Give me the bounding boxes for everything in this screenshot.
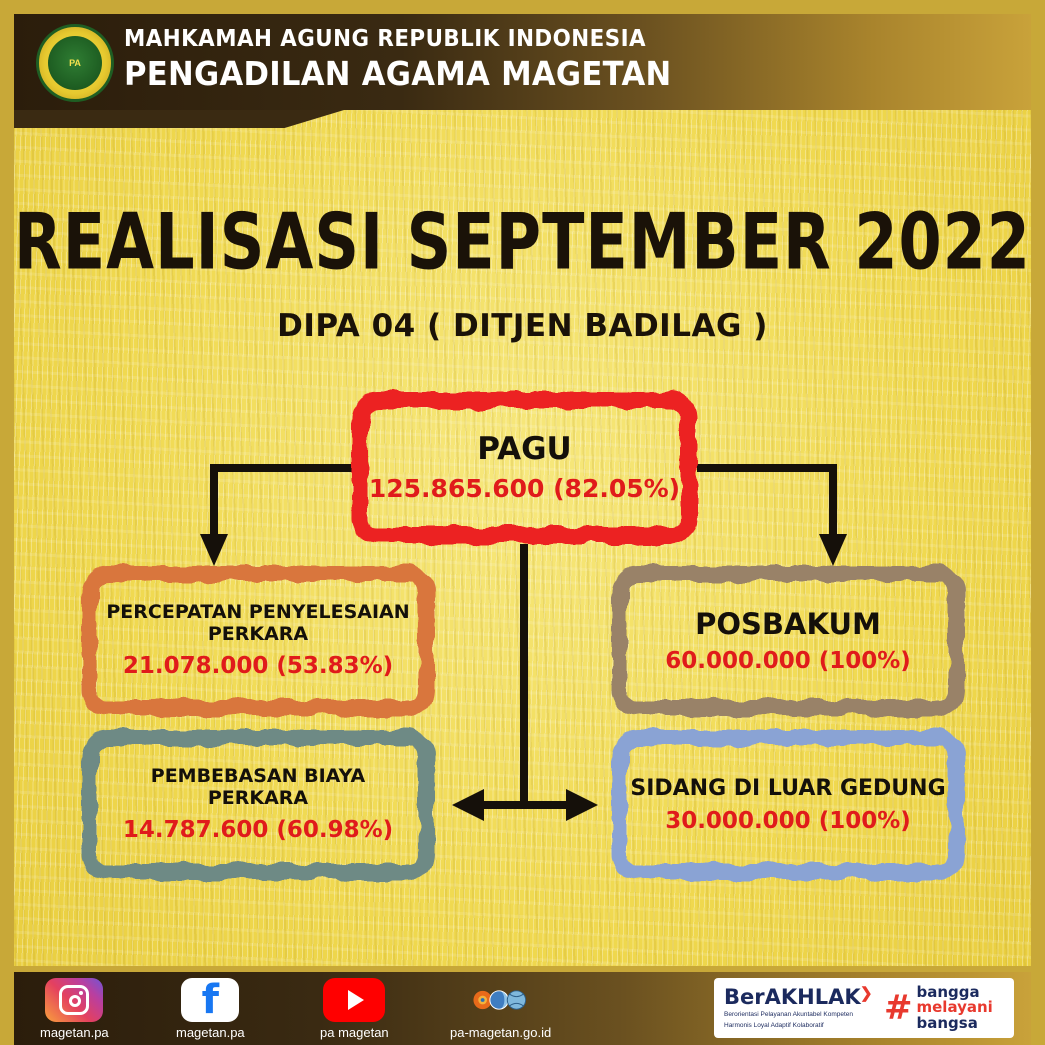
berakhlak-badge: BerAKHLAK Berorientasi Pelayanan Akuntab…: [714, 978, 1014, 1038]
website-icon[interactable]: [472, 978, 530, 1022]
node-percepatan-value: 21.078.000 (53.83%): [98, 653, 418, 679]
node-pembebasan-label: PEMBEBASAN BIAYA PERKARA: [98, 766, 418, 810]
social-facebook[interactable]: f magetan.pa: [176, 978, 245, 1040]
social-facebook-caption: magetan.pa: [176, 1025, 245, 1040]
node-sidang-label: SIDANG DI LUAR GEDUNG: [630, 776, 945, 801]
berakhlak-check-icon: ❯: [860, 984, 873, 1002]
node-posbakum-content: POSBAKUM 60.000.000 (100%): [649, 608, 927, 675]
facebook-icon[interactable]: f: [181, 978, 239, 1022]
social-website[interactable]: pa-magetan.go.id: [450, 978, 551, 1040]
node-pembebasan-biaya-perkara: PEMBEBASAN BIAYA PERKARA 14.787.600 (60.…: [82, 730, 434, 880]
instagram-icon[interactable]: [45, 978, 103, 1022]
bangga-melayani-bangsa-text: bangga melayani bangsa: [917, 985, 993, 1031]
node-pagu: PAGU 125.865.600 (82.05%): [352, 392, 697, 544]
node-posbakum-label: POSBAKUM: [665, 608, 911, 641]
social-website-caption: pa-magetan.go.id: [450, 1025, 551, 1040]
node-sidang-di-luar-gedung: SIDANG DI LUAR GEDUNG 30.000.000 (100%): [612, 730, 964, 880]
node-sidang-value: 30.000.000 (100%): [630, 808, 945, 834]
bangga-melayani-bangsa-logo: # bangga melayani bangsa: [884, 985, 993, 1031]
node-pagu-value: 125.865.600 (82.05%): [369, 475, 680, 504]
social-youtube-caption: pa magetan: [320, 1025, 389, 1040]
node-percepatan-penyelesaian-perkara: PERCEPATAN PENYELESAIAN PERKARA 21.078.0…: [82, 566, 434, 716]
node-percepatan-label: PERCEPATAN PENYELESAIAN PERKARA: [98, 602, 418, 646]
node-posbakum: POSBAKUM 60.000.000 (100%): [612, 566, 964, 716]
node-pagu-content: PAGU 125.865.600 (82.05%): [353, 432, 696, 503]
node-pembebasan-value: 14.787.600 (60.98%): [98, 817, 418, 843]
berakhlak-subtitle-1: Berorientasi Pelayanan Akuntabel Kompete…: [724, 1011, 884, 1020]
social-youtube[interactable]: pa magetan: [320, 978, 389, 1040]
slogan-line-3: bangsa: [917, 1016, 993, 1031]
node-posbakum-value: 60.000.000 (100%): [665, 648, 911, 674]
node-pembebasan-content: PEMBEBASAN BIAYA PERKARA 14.787.600 (60.…: [82, 766, 434, 843]
node-percepatan-content: PERCEPATAN PENYELESAIAN PERKARA 21.078.0…: [82, 602, 434, 679]
node-sidang-content: SIDANG DI LUAR GEDUNG 30.000.000 (100%): [614, 776, 961, 835]
social-instagram-caption: magetan.pa: [40, 1025, 109, 1040]
social-instagram[interactable]: magetan.pa: [40, 978, 109, 1040]
berakhlak-text-block: BerAKHLAK Berorientasi Pelayanan Akuntab…: [714, 985, 884, 1031]
berakhlak-subtitle-2: Harmonis Loyal Adaptif Kolaboratif: [724, 1022, 884, 1031]
youtube-icon[interactable]: [323, 978, 385, 1022]
node-pagu-label: PAGU: [369, 432, 680, 468]
hash-icon: #: [884, 988, 913, 1028]
